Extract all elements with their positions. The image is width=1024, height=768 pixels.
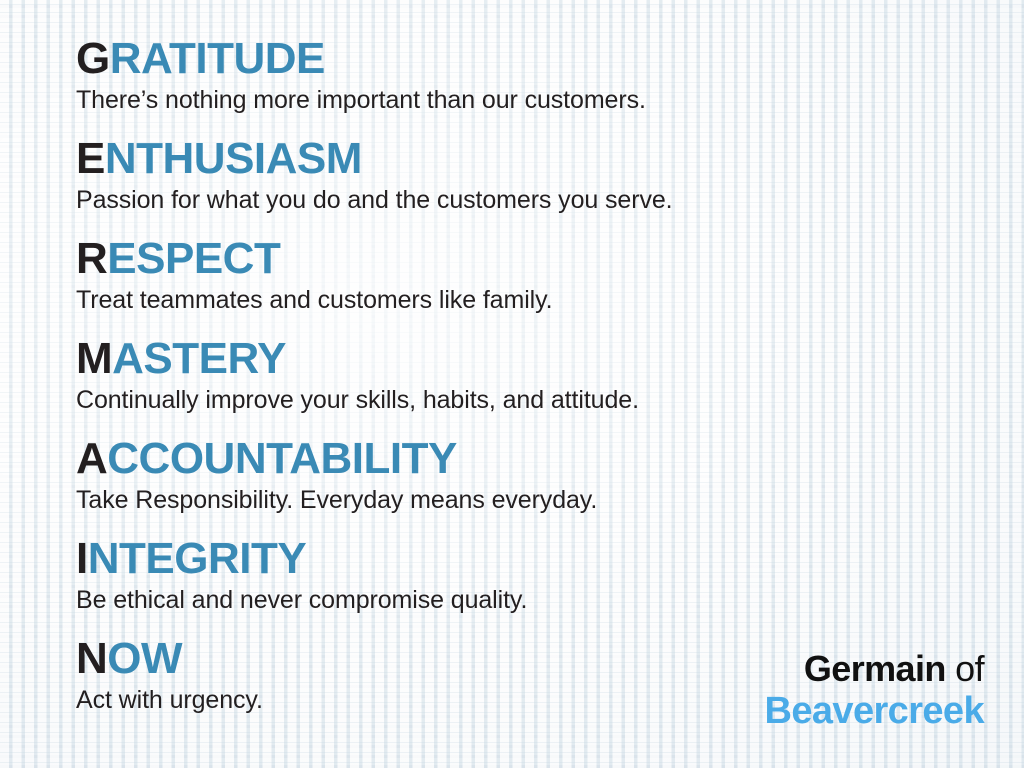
logo-brand-name: Germain: [804, 648, 946, 689]
value-block-accountability: ACCOUNTABILITY Take Responsibility. Ever…: [76, 436, 976, 536]
values-poster: GRATITUDE There’s nothing more important…: [0, 0, 1024, 768]
value-description-accountability: Take Responsibility. Everyday means ever…: [76, 484, 976, 516]
value-description-enthusiasm: Passion for what you do and the customer…: [76, 184, 976, 216]
value-initial-letter: R: [76, 234, 107, 283]
value-block-enthusiasm: ENTHUSIASM Passion for what you do and t…: [76, 136, 976, 236]
value-description-integrity: Be ethical and never compromise quality.: [76, 584, 976, 616]
value-word-remainder: ESPECT: [107, 234, 280, 283]
dealership-logo: Germain of Beavercreek: [765, 648, 985, 732]
value-description-gratitude: There’s nothing more important than our …: [76, 84, 976, 116]
value-word-remainder: RATITUDE: [110, 34, 325, 83]
logo-line-primary: Germain of: [765, 648, 985, 690]
value-block-integrity: INTEGRITY Be ethical and never compromis…: [76, 536, 976, 636]
value-word-remainder: NTEGRITY: [88, 534, 306, 583]
value-block-gratitude: GRATITUDE There’s nothing more important…: [76, 36, 976, 136]
core-values-list: GRATITUDE There’s nothing more important…: [76, 36, 976, 736]
value-block-respect: RESPECT Treat teammates and customers li…: [76, 236, 976, 336]
value-heading-mastery: MASTERY: [76, 336, 976, 382]
value-heading-gratitude: GRATITUDE: [76, 36, 976, 82]
value-heading-respect: RESPECT: [76, 236, 976, 282]
value-initial-letter: M: [76, 334, 112, 383]
value-word-remainder: ASTERY: [112, 334, 286, 383]
value-heading-enthusiasm: ENTHUSIASM: [76, 136, 976, 182]
value-block-mastery: MASTERY Continually improve your skills,…: [76, 336, 976, 436]
value-initial-letter: I: [76, 534, 88, 583]
value-word-remainder: CCOUNTABILITY: [107, 434, 457, 483]
value-initial-letter: G: [76, 34, 110, 83]
logo-connector-word: of: [955, 648, 984, 689]
value-heading-accountability: ACCOUNTABILITY: [76, 436, 976, 482]
value-word-remainder: OW: [107, 634, 182, 683]
value-initial-letter: N: [76, 634, 107, 683]
value-initial-letter: E: [76, 134, 105, 183]
value-heading-integrity: INTEGRITY: [76, 536, 976, 582]
logo-location-name: Beavercreek: [765, 690, 985, 732]
value-initial-letter: A: [76, 434, 107, 483]
value-description-mastery: Continually improve your skills, habits,…: [76, 384, 976, 416]
value-word-remainder: NTHUSIASM: [105, 134, 362, 183]
value-description-respect: Treat teammates and customers like famil…: [76, 284, 976, 316]
